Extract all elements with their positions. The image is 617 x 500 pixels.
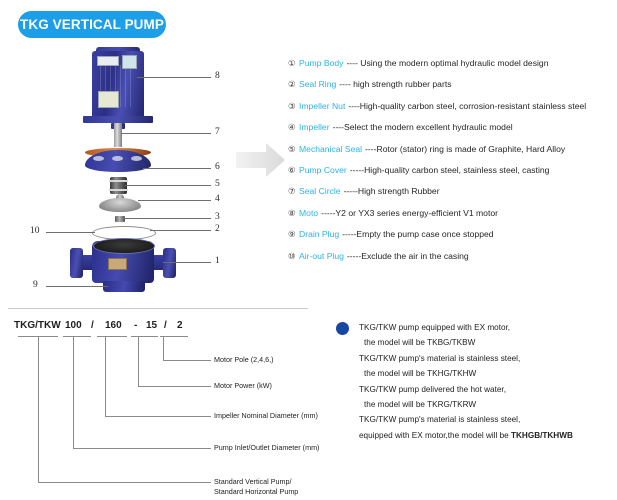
note-line: the model will be TKHG/TKHW	[336, 366, 614, 381]
code-label-series-2: Standard Horizontal Pump	[214, 487, 298, 497]
impeller	[99, 198, 141, 212]
legend-part-name: Pump Cover	[299, 165, 347, 176]
note-line: TKG/TKW pump's material is stainless ste…	[336, 412, 614, 427]
pump-outlet-flange	[163, 248, 176, 278]
legend-number-icon: ②	[288, 79, 299, 90]
section-divider	[8, 308, 308, 309]
pump-cover-window	[112, 156, 123, 161]
code-underline-power	[131, 336, 158, 337]
model-variant-notes: TKG/TKW pump equipped with EX motor, the…	[336, 320, 614, 443]
legend-number-icon: ⑧	[288, 208, 299, 219]
mechanical-seal-band	[109, 180, 128, 182]
note-line: the model will be TKRG/TKRW	[336, 397, 614, 412]
leader-line-9	[46, 286, 108, 287]
legend-part-name: Impeller	[299, 122, 330, 133]
legend-part-name: Moto	[299, 208, 318, 219]
legend-item: ⑥ Pump Cover -----High-quality carbon st…	[288, 165, 614, 176]
motor-fin	[120, 65, 121, 107]
motor-fin	[130, 65, 131, 107]
page-title-banner: TKG VERTICAL PUMP	[18, 11, 166, 38]
mechanical-seal-band	[109, 189, 128, 191]
legend-part-name: Seal Circle	[299, 186, 341, 197]
code-lead-series	[38, 482, 211, 483]
legend-number-icon: ③	[288, 101, 299, 112]
leader-line-2	[150, 230, 211, 231]
motor-housing	[92, 51, 144, 117]
leader-line-7	[121, 133, 211, 134]
note-line: the model will be TKBG/TKBW	[336, 335, 614, 350]
code-segment-pole: 2	[177, 320, 183, 331]
code-segment-inlet: 100	[65, 320, 82, 331]
code-label-power: Motor Power (kW)	[214, 381, 272, 391]
pump-body-foot	[103, 281, 145, 292]
legend-number-icon: ①	[288, 58, 299, 69]
code-stem-inlet	[73, 336, 74, 448]
callout-8: 8	[215, 71, 220, 81]
legend-description: -----High-quality carbon steel, stainles…	[350, 165, 550, 176]
code-label-inlet: Pump Inlet/Outlet Diameter (mm)	[214, 443, 319, 453]
legend-number-icon: ⑦	[288, 186, 299, 197]
legend-description: -----High strength Rubber	[344, 186, 440, 197]
legend-item: ⑩ Air-out Plug -----Exclude the air in t…	[288, 251, 614, 262]
leader-line-1	[163, 262, 211, 263]
bullet-icon	[336, 322, 349, 335]
legend-item: ① Pump Body ---- Using the modern optima…	[288, 58, 614, 69]
legend-description: -----Empty the pump case once stopped	[342, 229, 493, 240]
code-lead-power	[138, 386, 211, 387]
code-segment-power: 15	[146, 320, 157, 331]
legend-description: -----Y2 or YX3 series energy-efficient V…	[321, 208, 498, 219]
code-stem-pole	[163, 336, 164, 360]
note-line: TKG/TKW pump's material is stainless ste…	[336, 351, 614, 366]
code-stem-impeller	[105, 336, 106, 416]
legend-description: ----Rotor (stator) ring is made of Graph…	[365, 144, 565, 155]
code-segment-impeller: 160	[105, 320, 122, 331]
legend-description: ----Select the modern excellent hydrauli…	[333, 122, 513, 133]
legend-item: ② Seal Ring ---- high strength rubber pa…	[288, 79, 614, 90]
legend-item: ③ Impeller Nut ----High-quality carbon s…	[288, 101, 614, 112]
motor-nameplate	[97, 56, 119, 66]
note-text: equipped with EX motor,the model will be	[359, 431, 511, 440]
pump-body-nameplate	[108, 258, 127, 270]
leader-line-10	[46, 232, 95, 233]
legend-number-icon: ⑨	[288, 229, 299, 240]
legend-item: ⑦ Seal Circle -----High strength Rubber	[288, 186, 614, 197]
code-underline-inlet	[63, 336, 91, 337]
code-label-pole: Motor Pole (2,4,6,)	[214, 355, 274, 365]
note-model-code: TKHGB/TKHWB	[511, 431, 573, 440]
motor-terminal-box	[122, 55, 137, 69]
code-underline-pole	[160, 336, 188, 337]
leader-line-6	[143, 168, 211, 169]
legend-part-name: Drain Plug	[299, 229, 339, 240]
code-label-impeller: Impeller Nominal Diameter (mm)	[214, 411, 318, 421]
legend-item: ⑤ Mechanical Seal ----Rotor (stator) rin…	[288, 144, 614, 155]
callout-9: 9	[33, 280, 38, 290]
note-line-emphasis: equipped with EX motor,the model will be…	[336, 428, 614, 443]
legend-part-name: Air-out Plug	[299, 251, 344, 262]
legend-item: ⑧ Moto -----Y2 or YX3 series energy-effi…	[288, 208, 614, 219]
legend-description: ---- high strength rubber parts	[339, 79, 451, 90]
motor-base-flange	[83, 116, 153, 123]
code-lead-inlet	[73, 448, 211, 449]
legend-number-icon: ⑩	[288, 251, 299, 262]
legend-number-icon: ④	[288, 122, 299, 133]
legend-number-icon: ⑥	[288, 165, 299, 176]
callout-6: 6	[215, 162, 220, 172]
code-stem-power	[138, 336, 139, 386]
leader-line-3	[124, 218, 211, 219]
impeller-nut	[115, 216, 125, 222]
code-lead-pole	[163, 360, 211, 361]
code-separator-slash-1: /	[91, 320, 94, 331]
note-line: TKG/TKW pump delivered the hot water,	[336, 382, 614, 397]
code-stem-series	[38, 336, 39, 482]
callout-5: 5	[215, 179, 220, 189]
code-label-series-1: Standard Vertical Pump/	[214, 477, 292, 487]
callout-10: 10	[30, 226, 40, 236]
page-title: TKG VERTICAL PUMP	[20, 17, 164, 32]
code-separator-dash: -	[134, 320, 137, 331]
model-code-breakdown: TKG/TKW 100 / 160 - 15 / 2 Motor Pole (2…	[0, 316, 320, 496]
note-line: TKG/TKW pump equipped with EX motor,	[336, 320, 614, 335]
callout-7: 7	[215, 127, 220, 137]
pump-cover-window	[131, 156, 142, 161]
right-arrow-icon	[236, 140, 286, 180]
callout-1: 1	[215, 256, 220, 266]
callout-3: 3	[215, 212, 220, 222]
legend-item: ⑨ Drain Plug -----Empty the pump case on…	[288, 229, 614, 240]
legend-description: ----High-quality carbon steel, corrosion…	[348, 101, 586, 112]
code-underline-impeller	[97, 336, 127, 337]
pump-exploded-diagram: 8 7 6 5 4 3 2 1 10 9	[0, 44, 250, 304]
pump-shaft	[114, 123, 122, 147]
motor-junction-box	[98, 91, 119, 108]
pump-cover-window	[93, 156, 104, 161]
motor-fin	[125, 65, 126, 107]
code-lead-impeller	[105, 416, 211, 417]
legend-part-name: Pump Body	[299, 58, 343, 69]
callout-4: 4	[215, 194, 220, 204]
leader-line-5	[125, 185, 211, 186]
pump-inlet-flange	[70, 248, 83, 278]
legend-part-name: Seal Ring	[299, 79, 336, 90]
leader-line-4	[138, 200, 211, 201]
leader-line-8	[137, 77, 211, 78]
parts-legend-list: ① Pump Body ---- Using the modern optima…	[288, 58, 614, 272]
legend-number-icon: ⑤	[288, 144, 299, 155]
pump-body-opening	[93, 238, 155, 254]
code-separator-slash-2: /	[164, 320, 167, 331]
callout-2: 2	[215, 224, 220, 234]
legend-part-name: Impeller Nut	[299, 101, 345, 112]
legend-item: ④ Impeller ----Select the modern excelle…	[288, 122, 614, 133]
legend-description: -----Exclude the air in the casing	[347, 251, 469, 262]
code-segment-series: TKG/TKW	[14, 320, 61, 331]
legend-part-name: Mechanical Seal	[299, 144, 362, 155]
legend-description: ---- Using the modern optimal hydraulic …	[346, 58, 548, 69]
